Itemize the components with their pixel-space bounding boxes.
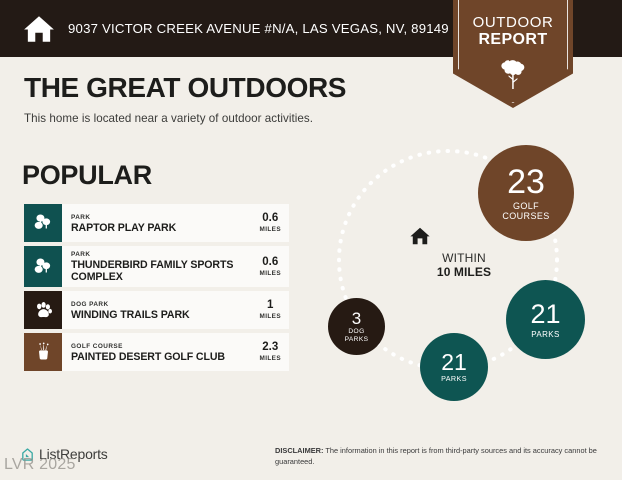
disclaimer-label: DISCLAIMER: xyxy=(275,446,323,455)
list-item-distance: 1 MILES xyxy=(255,291,289,329)
tree-icon xyxy=(500,58,526,90)
badge-title-line2: REPORT xyxy=(453,31,573,49)
stat-value: 23 xyxy=(507,165,545,199)
distance-value: 0.6 xyxy=(262,212,278,225)
badge-text: OUTDOOR REPORT xyxy=(453,14,573,49)
distance-unit: MILES xyxy=(259,354,281,363)
stat-label-line1: DOG xyxy=(348,328,364,336)
distance-value: 1 xyxy=(267,299,273,312)
park-trees-icon xyxy=(24,246,62,287)
home-icon xyxy=(22,12,56,46)
list-item[interactable]: PARK RAPTOR PLAY PARK 0.6 MILES xyxy=(24,204,289,242)
distance-unit: MILES xyxy=(259,269,281,278)
home-icon xyxy=(409,225,519,247)
outdoor-report-page: 9037 VICTOR CREEK AVENUE #N/A, LAS VEGAS… xyxy=(0,0,622,480)
stat-value: 21 xyxy=(441,351,467,374)
outdoor-report-badge: OUTDOOR REPORT xyxy=(453,0,573,108)
list-item-name: PAINTED DESERT GOLF CLUB xyxy=(71,351,251,363)
list-item-distance: 2.3 MILES xyxy=(255,333,289,371)
page-title: THE GREAT OUTDOORS xyxy=(24,72,346,104)
stat-circle-parks-bottom: 21 PARKS xyxy=(420,333,488,401)
stat-circle-dog-parks: 3 DOG PARKS xyxy=(328,298,385,355)
list-item-category: GOLF COURSE xyxy=(71,342,251,351)
distance-value: 2.3 xyxy=(262,341,278,354)
list-item-distance: 0.6 MILES xyxy=(255,204,289,242)
center-label-line1: WITHIN xyxy=(409,251,519,265)
title-block: THE GREAT OUTDOORS This home is located … xyxy=(24,72,346,125)
list-item-name: WINDING TRAILS PARK xyxy=(71,309,251,321)
stat-value: 21 xyxy=(530,301,560,328)
within-10-miles-infographic: 23 GOLF COURSES 21 PARKS 21 PARKS 3 DOG … xyxy=(315,130,615,430)
list-item-text: GOLF COURSE PAINTED DESERT GOLF CLUB xyxy=(62,333,255,371)
list-item-name: THUNDERBIRD FAMILY SPORTS COMPLEX xyxy=(71,259,251,283)
list-item[interactable]: DOG PARK WINDING TRAILS PARK 1 MILES xyxy=(24,291,289,329)
popular-section-heading: POPULAR xyxy=(22,160,152,191)
infographic-center-label: WITHIN 10 MILES xyxy=(409,225,519,279)
distance-value: 0.6 xyxy=(262,256,278,269)
popular-list: PARK RAPTOR PLAY PARK 0.6 MILES PARK xyxy=(24,204,289,375)
stat-circle-parks-right: 21 PARKS xyxy=(506,280,585,359)
distance-unit: MILES xyxy=(259,225,281,234)
list-item[interactable]: GOLF COURSE PAINTED DESERT GOLF CLUB 2.3… xyxy=(24,333,289,371)
disclaimer: DISCLAIMER: The information in this repo… xyxy=(275,445,605,467)
stat-label-line2: COURSES xyxy=(502,211,549,222)
paw-print-icon xyxy=(24,291,62,329)
park-trees-icon xyxy=(24,204,62,242)
page-subtitle: This home is located near a variety of o… xyxy=(24,112,346,125)
stat-label: PARKS xyxy=(441,375,467,383)
stat-label: PARKS xyxy=(531,330,560,339)
list-item-distance: 0.6 MILES xyxy=(255,246,289,287)
list-item-text: PARK THUNDERBIRD FAMILY SPORTS COMPLEX xyxy=(62,246,255,287)
badge-title-line1: OUTDOOR xyxy=(453,14,573,31)
center-label-line2: 10 MILES xyxy=(409,265,519,279)
stat-label-line2: PARKS xyxy=(345,336,369,344)
distance-unit: MILES xyxy=(259,312,281,321)
list-item-text: PARK RAPTOR PLAY PARK xyxy=(62,204,255,242)
list-item-text: DOG PARK WINDING TRAILS PARK xyxy=(62,291,255,329)
list-item[interactable]: PARK THUNDERBIRD FAMILY SPORTS COMPLEX 0… xyxy=(24,246,289,287)
watermark-text: LVR 2025 xyxy=(4,456,76,474)
property-address: 9037 VICTOR CREEK AVENUE #N/A, LAS VEGAS… xyxy=(68,21,449,36)
disclaimer-text: The information in this report is from t… xyxy=(275,446,597,466)
list-item-category: PARK xyxy=(71,250,251,259)
list-item-name: RAPTOR PLAY PARK xyxy=(71,222,251,234)
golf-bag-icon xyxy=(24,333,62,371)
stat-value: 3 xyxy=(352,310,361,327)
list-item-category: DOG PARK xyxy=(71,300,251,309)
stat-label-line1: GOLF xyxy=(513,201,539,212)
list-item-category: PARK xyxy=(71,213,251,222)
